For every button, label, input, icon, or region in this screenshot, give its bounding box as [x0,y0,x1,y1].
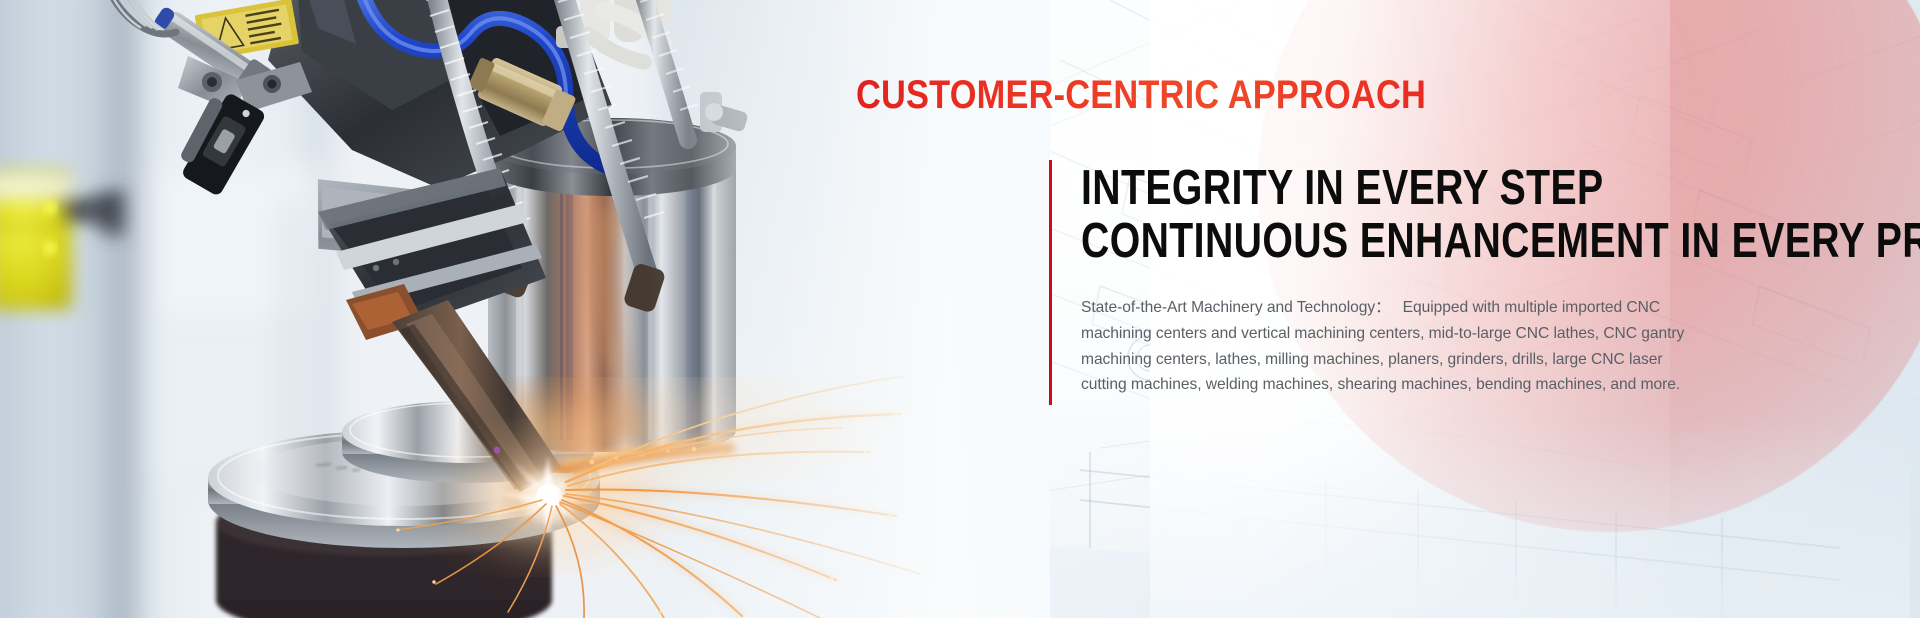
headline-line-1: INTEGRITY IN EVERY STEP [1081,160,1920,216]
banner-content: CUSTOMER-CENTRIC APPROACH INTEGRITY IN E… [856,0,1920,618]
headline-block: INTEGRITY IN EVERY STEP CONTINUOUS ENHAN… [1049,160,1920,405]
description-line-1-tail: Equipped with multiple imported CNC [1403,299,1660,316]
description-paragraph: State-of-the-Art Machinery and Technolog… [1081,295,1920,398]
description-line-3: machining centers, lathes, milling machi… [1081,347,1920,373]
description-line-2: machining centers and vertical machining… [1081,321,1920,347]
description-label: State-of-the-Art Machinery and Technolog… [1081,299,1391,316]
description-line-1: State-of-the-Art Machinery and Technolog… [1081,295,1920,321]
description-line-4: cutting machines, welding machines, shea… [1081,372,1920,398]
hero-banner: CUSTOMER-CENTRIC APPROACH INTEGRITY IN E… [0,0,1920,618]
eyebrow-heading: CUSTOMER-CENTRIC APPROACH [856,75,1426,115]
headline-line-2: CONTINUOUS ENHANCEMENT IN EVERY PROCESS [1081,213,1920,269]
